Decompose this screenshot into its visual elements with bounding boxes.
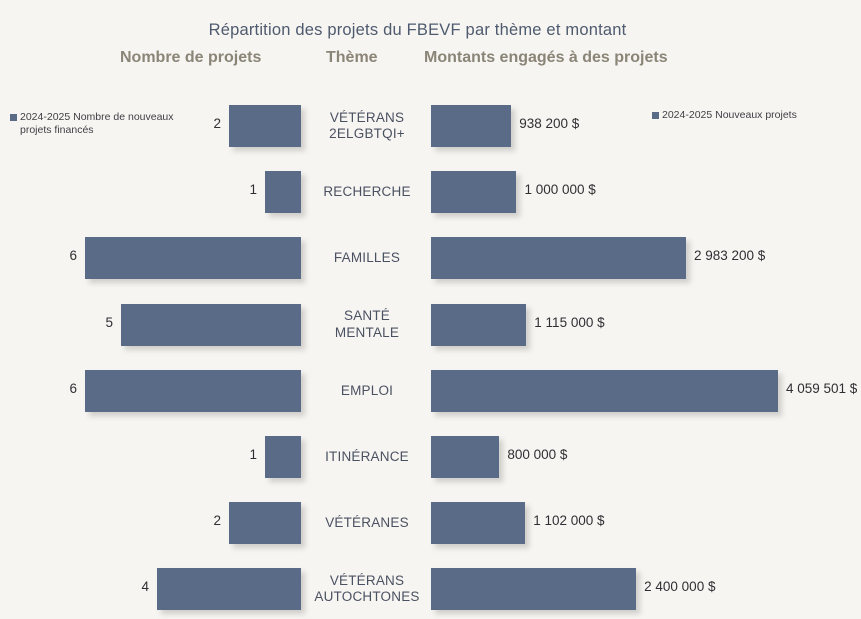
column-header-amount: Montants engagés à des projets: [424, 49, 668, 67]
theme-label-text: RECHERCHE: [323, 184, 410, 200]
count-panel: 6: [0, 370, 301, 412]
theme-label-text: SANTÉMENTALE: [335, 308, 399, 340]
column-header-count: Nombre de projets: [120, 49, 261, 67]
amount-panel: 1 102 000 $: [431, 502, 861, 544]
theme-label-text: ITINÉRANCE: [325, 449, 409, 465]
chart-row: 6EMPLOI4 059 501 $: [0, 370, 861, 412]
count-panel: 1: [0, 171, 301, 213]
amount-bar[interactable]: [431, 436, 499, 478]
amount-panel: 2 400 000 $: [431, 568, 861, 610]
count-panel: 5: [0, 304, 301, 346]
count-bar[interactable]: [265, 436, 301, 478]
amount-panel: 938 200 $: [431, 105, 861, 147]
chart-row: 2VÉTÉRANES1 102 000 $: [0, 502, 861, 544]
theme-label: FAMILLES: [306, 237, 428, 279]
chart-title: Répartition des projets du FBEVF par thè…: [0, 21, 835, 40]
amount-value-label: 1 115 000 $: [534, 315, 604, 330]
count-value-label: 2: [213, 513, 221, 528]
theme-label-text: VÉTÉRANS2ELGBTQI+: [329, 110, 405, 142]
theme-label-text: VÉTÉRANES: [325, 515, 409, 531]
theme-label: VÉTÉRANS2ELGBTQI+: [306, 105, 428, 147]
amount-panel: 4 059 501 $: [431, 370, 861, 412]
count-bar[interactable]: [229, 105, 301, 147]
amount-bar[interactable]: [431, 502, 525, 544]
chart-canvas: Répartition des projets du FBEVF par thè…: [0, 0, 861, 619]
amount-bar[interactable]: [431, 568, 636, 610]
theme-label-text: FAMILLES: [334, 250, 400, 266]
amount-value-label: 938 200 $: [519, 116, 579, 131]
amount-value-label: 2 983 200 $: [694, 248, 765, 263]
chart-row: 1ITINÉRANCE800 000 $: [0, 436, 861, 478]
chart-row: 4VÉTÉRANSAUTOCHTONES2 400 000 $: [0, 568, 861, 610]
amount-bar[interactable]: [431, 304, 526, 346]
count-bar[interactable]: [85, 237, 301, 279]
count-value-label: 1: [249, 447, 257, 462]
count-panel: 1: [0, 436, 301, 478]
count-panel: 6: [0, 237, 301, 279]
count-value-label: 5: [105, 315, 113, 330]
amount-bar[interactable]: [431, 171, 516, 213]
amount-panel: 800 000 $: [431, 436, 861, 478]
chart-row: 1RECHERCHE1 000 000 $: [0, 171, 861, 213]
theme-label: VÉTÉRANES: [306, 502, 428, 544]
theme-label: EMPLOI: [306, 370, 428, 412]
theme-label-text: EMPLOI: [341, 383, 393, 399]
count-bar[interactable]: [85, 370, 301, 412]
amount-panel: 1 115 000 $: [431, 304, 861, 346]
amount-value-label: 1 102 000 $: [533, 513, 604, 528]
count-panel: 2: [0, 105, 301, 147]
amount-panel: 2 983 200 $: [431, 237, 861, 279]
count-value-label: 1: [249, 182, 257, 197]
count-value-label: 4: [141, 579, 149, 594]
count-value-label: 2: [213, 116, 221, 131]
chart-row: 2VÉTÉRANS2ELGBTQI+938 200 $: [0, 105, 861, 147]
amount-value-label: 1 000 000 $: [524, 182, 595, 197]
count-bar[interactable]: [157, 568, 301, 610]
column-header-theme: Thème: [326, 49, 378, 67]
theme-label-text: VÉTÉRANSAUTOCHTONES: [314, 573, 419, 605]
chart-row: 6FAMILLES2 983 200 $: [0, 237, 861, 279]
theme-label: VÉTÉRANSAUTOCHTONES: [306, 568, 428, 610]
amount-bar[interactable]: [431, 370, 778, 412]
amount-panel: 1 000 000 $: [431, 171, 861, 213]
count-panel: 4: [0, 568, 301, 610]
amount-value-label: 800 000 $: [507, 447, 567, 462]
count-panel: 2: [0, 502, 301, 544]
amount-bar[interactable]: [431, 105, 511, 147]
chart-row: 5SANTÉMENTALE1 115 000 $: [0, 304, 861, 346]
count-bar[interactable]: [229, 502, 301, 544]
theme-label: SANTÉMENTALE: [306, 304, 428, 346]
count-value-label: 6: [69, 381, 77, 396]
count-bar[interactable]: [121, 304, 301, 346]
theme-label: RECHERCHE: [306, 171, 428, 213]
amount-value-label: 4 059 501 $: [786, 381, 857, 396]
amount-value-label: 2 400 000 $: [644, 579, 715, 594]
amount-bar[interactable]: [431, 237, 686, 279]
theme-label: ITINÉRANCE: [306, 436, 428, 478]
count-value-label: 6: [69, 248, 77, 263]
count-bar[interactable]: [265, 171, 301, 213]
